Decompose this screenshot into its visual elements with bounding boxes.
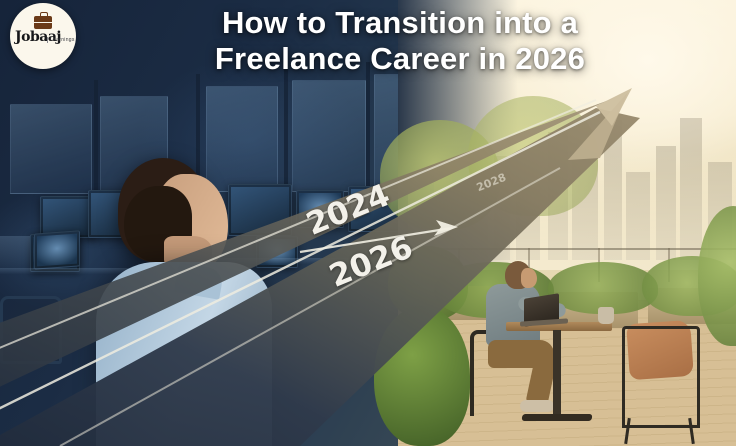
office-window [292, 80, 366, 192]
jobaaj-learnings-logo[interactable]: Jobaaj Learnings [10, 3, 76, 69]
office-divider [0, 236, 30, 270]
cafe-table-foot [522, 414, 593, 421]
blog-hero-banner: 2024 2026 2028 How to Transition into a … [0, 0, 736, 446]
office-window [206, 86, 278, 192]
cafe-table-stem [553, 330, 561, 416]
window-mullion [284, 68, 288, 198]
rooftop-railing [438, 248, 736, 250]
office-monitor [228, 184, 292, 236]
logo-sub-wordmark: Learnings [47, 37, 75, 43]
cafe-chair-right [622, 326, 700, 428]
foliage-foreground [374, 306, 470, 446]
office-window [10, 104, 92, 194]
freelancer-face [521, 268, 537, 288]
window-mullion [94, 80, 98, 200]
window-mullion [366, 62, 370, 196]
tree-canopy [468, 96, 598, 216]
briefcase-icon [34, 16, 52, 29]
freelancer-shoe [520, 400, 554, 412]
coffee-cup [598, 307, 614, 324]
page-title: How to Transition into a Freelance Caree… [120, 5, 680, 77]
office-laptop [34, 230, 80, 269]
page-title-line-2: Freelance Career in 2026 [120, 41, 680, 77]
office-chair [0, 296, 62, 364]
page-title-line-1: How to Transition into a [222, 5, 578, 40]
